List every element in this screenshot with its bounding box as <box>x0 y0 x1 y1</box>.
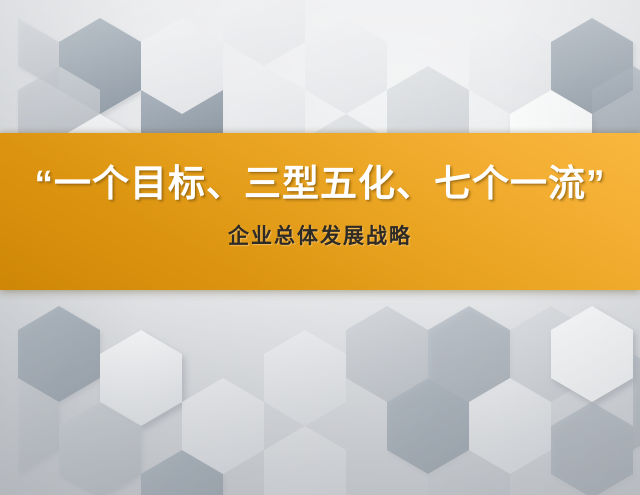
presentation-slide: “一个目标、三型五化、七个一流” 企业总体发展战略 <box>0 0 640 495</box>
title-banner: “一个目标、三型五化、七个一流” 企业总体发展战略 <box>0 133 640 290</box>
slide-subtitle: 企业总体发展战略 <box>228 220 412 250</box>
slide-title: “一个目标、三型五化、七个一流” <box>35 163 606 204</box>
